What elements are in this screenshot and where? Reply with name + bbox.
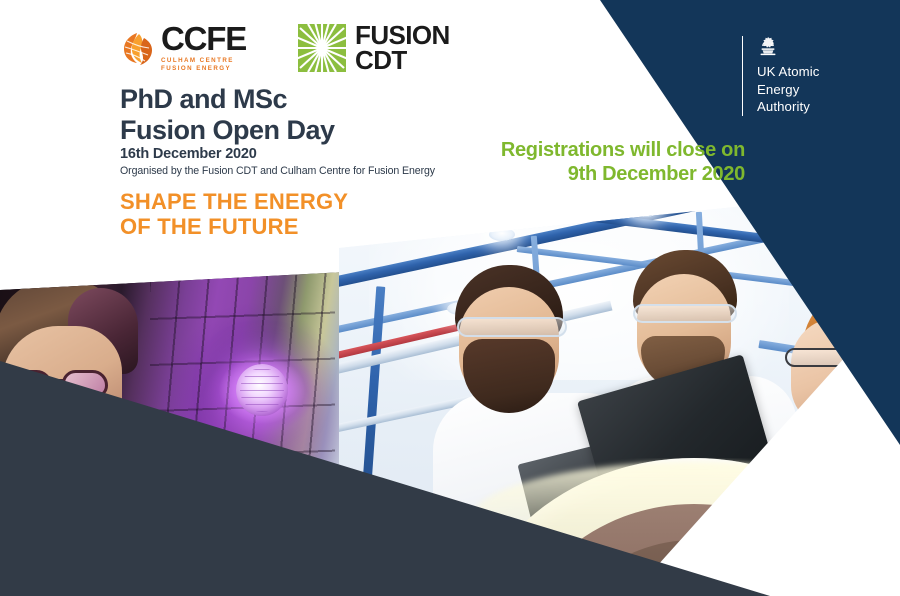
event-date: 16th December 2020 <box>120 146 257 162</box>
ukaea-line3: Authority <box>757 98 819 116</box>
ceiling-lamp <box>489 228 515 241</box>
tagline: SHAPE THE ENERGY OF THE FUTURE <box>120 189 348 240</box>
organised-by-text: Organised by the Fusion CDT and Culham C… <box>120 165 435 177</box>
tagline-line1: SHAPE THE ENERGY <box>120 189 348 214</box>
tagline-line2: OF THE FUTURE <box>120 214 348 239</box>
registration-line1: Registrations will close on <box>501 138 745 162</box>
ccfe-flame-icon <box>120 31 154 65</box>
fusion-cdt-line2: CDT <box>355 48 450 72</box>
ceiling-lamp <box>633 204 659 217</box>
registration-deadline-note: Registrations will close on 9th December… <box>501 138 745 186</box>
fusion-cdt-wordmark: FUSION CDT <box>355 23 450 72</box>
fusion-cdt-logo[interactable]: FUSION CDT <box>298 23 450 72</box>
ukaea-wordmark: UK Atomic Energy Authority <box>757 63 819 116</box>
ccfe-name: CCFE <box>161 22 246 55</box>
registration-line2: 9th December 2020 <box>501 162 745 186</box>
headline-line1: PhD and MSc <box>120 84 335 115</box>
safety-glasses-icon <box>633 304 737 323</box>
royal-crest-icon <box>757 45 779 62</box>
logo-row: CCFE CULHAM CENTRE FUSION ENERGY <box>120 22 450 73</box>
ccfe-subtitle-line2: FUSION ENERGY <box>161 65 246 73</box>
fusion-open-day-poster: CCFE CULHAM CENTRE FUSION ENERGY <box>0 0 900 596</box>
safety-glasses-icon <box>457 317 567 337</box>
fusion-sunburst-icon <box>298 24 346 72</box>
headline-line2: Fusion Open Day <box>120 115 335 146</box>
ccfe-logo[interactable]: CCFE CULHAM CENTRE FUSION ENERGY <box>120 22 246 73</box>
plasma-orb <box>236 364 288 416</box>
ukaea-logo[interactable]: UK Atomic Energy Authority <box>742 36 819 116</box>
ccfe-wordmark: CCFE CULHAM CENTRE FUSION ENERGY <box>161 22 246 73</box>
ccfe-subtitle-line1: CULHAM CENTRE <box>161 57 246 65</box>
ukaea-line1: UK Atomic <box>757 63 819 81</box>
page-title: PhD and MSc Fusion Open Day <box>120 84 335 145</box>
ukaea-line2: Energy <box>757 81 819 99</box>
